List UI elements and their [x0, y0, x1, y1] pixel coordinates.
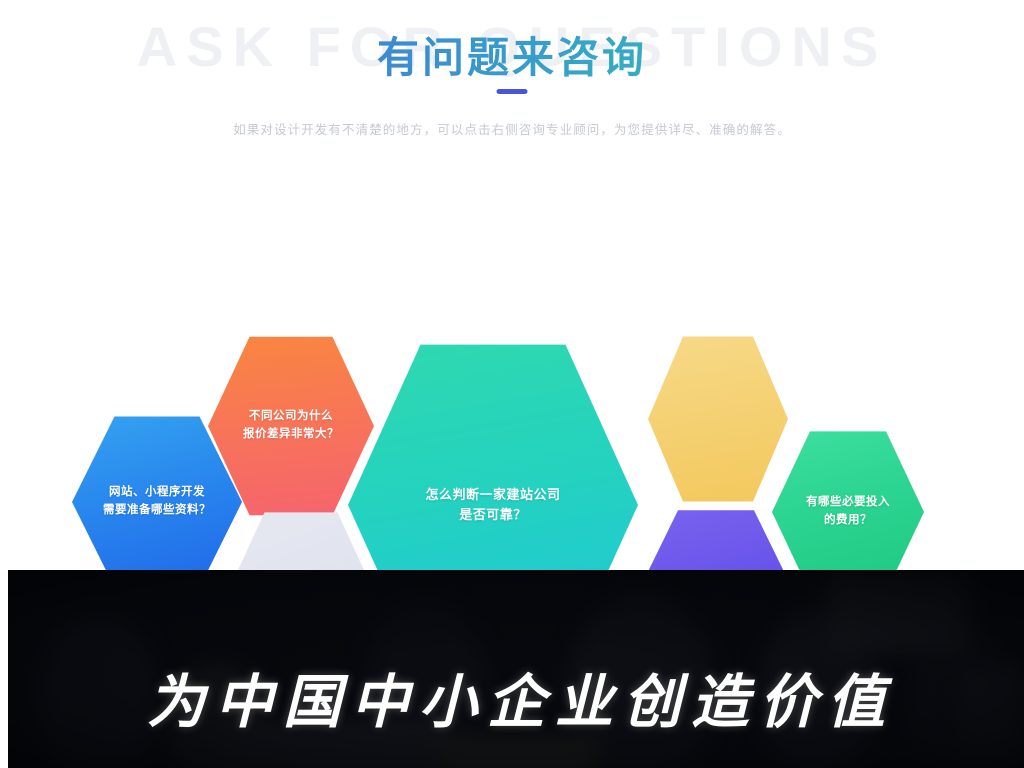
hexagon-line-1: 不同公司为什么 — [249, 408, 333, 426]
hexagon-decorative-yellow — [648, 333, 788, 505]
hexagon-line-1: 网站、小程序开发 — [109, 484, 205, 502]
hexagon-line-2: 是否可靠？ — [459, 505, 527, 525]
bottom-banner: 为中国中小企业创造价值 — [8, 570, 1024, 768]
page-root: ASK FOR QUESTIONS 有问题来咨询 如果对设计开发有不清楚的地方，… — [0, 0, 1024, 768]
page-title: 有问题来咨询 — [0, 24, 1024, 85]
header-subtitle: 如果对设计开发有不清楚的地方，可以点击右侧咨询专业顾问，为您提供详尽、准确的解答… — [0, 119, 1024, 138]
hexagon-line-1: 怎么判断一家建站公司 — [425, 485, 560, 505]
section-header: ASK FOR QUESTIONS 有问题来咨询 如果对设计开发有不清楚的地方，… — [0, 0, 1024, 150]
hexagon-line-1: 有哪些必要投入 — [806, 494, 890, 512]
hexagon-line-2: 报价差异非常大？ — [243, 426, 339, 444]
hexagon-line-2: 需要准备哪些资料？ — [103, 502, 211, 520]
hexagon-cluster: 网站、小程序开发 需要准备哪些资料？ 不同公司为什么 报价差异非常大？ 怎么判断… — [0, 150, 1024, 570]
hexagon-line-2: 的费用？ — [824, 512, 872, 530]
title-divider — [497, 89, 528, 94]
banner-slogan-text: 为中国中小企业创造价值 — [8, 570, 1024, 768]
